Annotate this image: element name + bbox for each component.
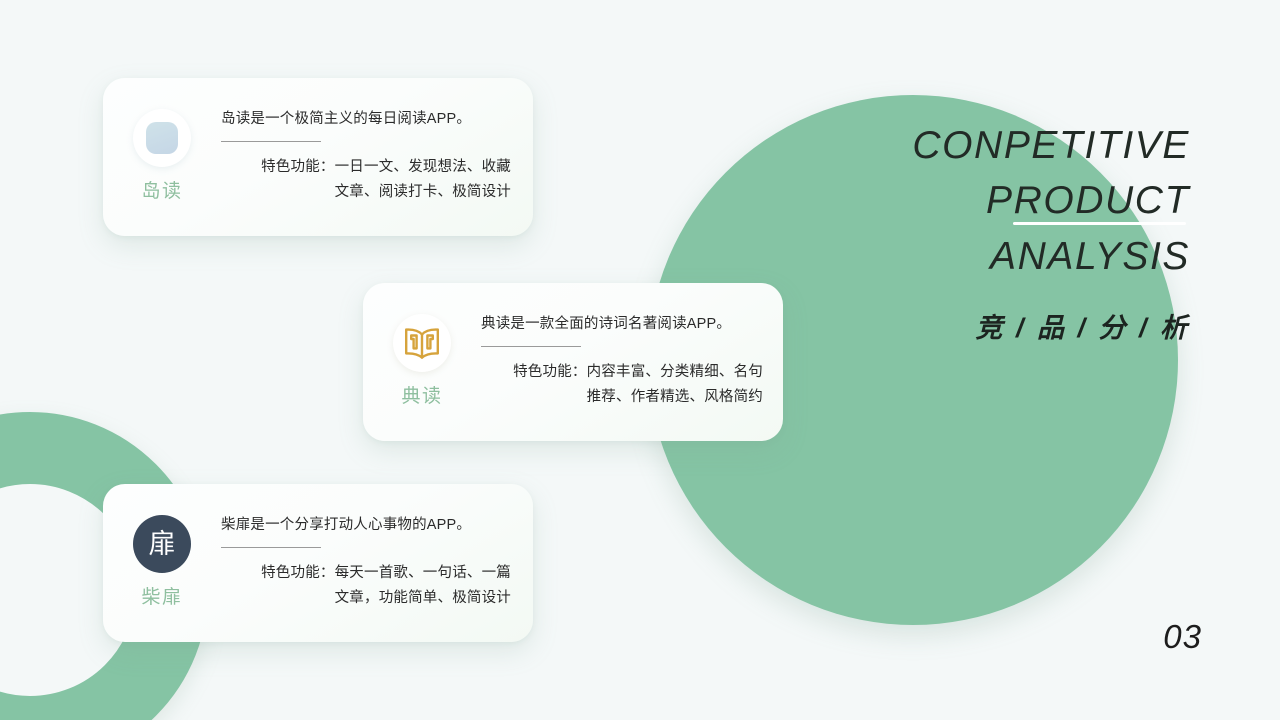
card-text-column: 柴扉是一个分享打动人心事物的APP。 特色功能：每天一首歌、一句话、一篇 文章，… — [221, 515, 533, 612]
card-divider — [481, 346, 581, 347]
app-features: 特色功能：一日一文、发现想法、收藏 文章、阅读打卡、极简设计 — [221, 155, 511, 205]
title-english: CONPETITIVE PRODUCT ANALYSIS — [700, 118, 1190, 284]
app-description: 柴扉是一个分享打动人心事物的APP。 — [221, 515, 511, 537]
open-book-icon — [402, 326, 442, 360]
app-card-chai-fei[interactable]: 扉 柴扉 柴扉是一个分享打动人心事物的APP。 特色功能：每天一首歌、一句话、一… — [103, 484, 533, 642]
card-icon-column: 典读 — [363, 314, 481, 410]
card-icon-column: 扉 柴扉 — [103, 515, 221, 611]
title-chinese: 竞 / 品 / 分 / 析 — [700, 306, 1190, 345]
feature-line-1: 特色功能：内容丰富、分类精细、名句 — [481, 360, 763, 385]
dian-du-book-icon — [393, 314, 451, 372]
card-icon-column: 岛读 — [103, 109, 221, 205]
feature-line-2: 文章，功能简单、极简设计 — [221, 586, 511, 611]
app-card-dao-du[interactable]: 岛读 岛读是一个极简主义的每日阅读APP。 特色功能：一日一文、发现想法、收藏 … — [103, 78, 533, 236]
feature-line-1: 特色功能：每天一首歌、一句话、一篇 — [221, 561, 511, 586]
title-underline — [1013, 222, 1186, 225]
slide-canvas: CONPETITIVE PRODUCT ANALYSIS 竞 / 品 / 分 /… — [0, 0, 1280, 720]
app-name-label: 柴扉 — [141, 582, 182, 609]
card-divider — [221, 547, 321, 548]
chai-fei-app-icon: 扉 — [133, 515, 191, 573]
app-description: 岛读是一个极简主义的每日阅读APP。 — [221, 109, 511, 131]
rounded-square-icon — [146, 122, 178, 154]
dao-du-app-icon — [133, 109, 191, 167]
page-number: 03 — [1163, 618, 1202, 656]
feature-line-1: 特色功能：一日一文、发现想法、收藏 — [221, 155, 511, 180]
feature-line-2: 文章、阅读打卡、极简设计 — [221, 180, 511, 205]
app-name-label: 典读 — [401, 381, 442, 408]
app-features: 特色功能：内容丰富、分类精细、名句 推荐、作者精选、风格简约 — [481, 360, 763, 410]
feature-line-2: 推荐、作者精选、风格简约 — [481, 385, 763, 410]
card-divider — [221, 141, 321, 142]
app-features: 特色功能：每天一首歌、一句话、一篇 文章，功能简单、极简设计 — [221, 561, 511, 611]
app-name-label: 岛读 — [141, 176, 182, 203]
slide-title-block: CONPETITIVE PRODUCT ANALYSIS 竞 / 品 / 分 /… — [700, 118, 1190, 345]
card-text-column: 岛读是一个极简主义的每日阅读APP。 特色功能：一日一文、发现想法、收藏 文章、… — [221, 109, 533, 206]
